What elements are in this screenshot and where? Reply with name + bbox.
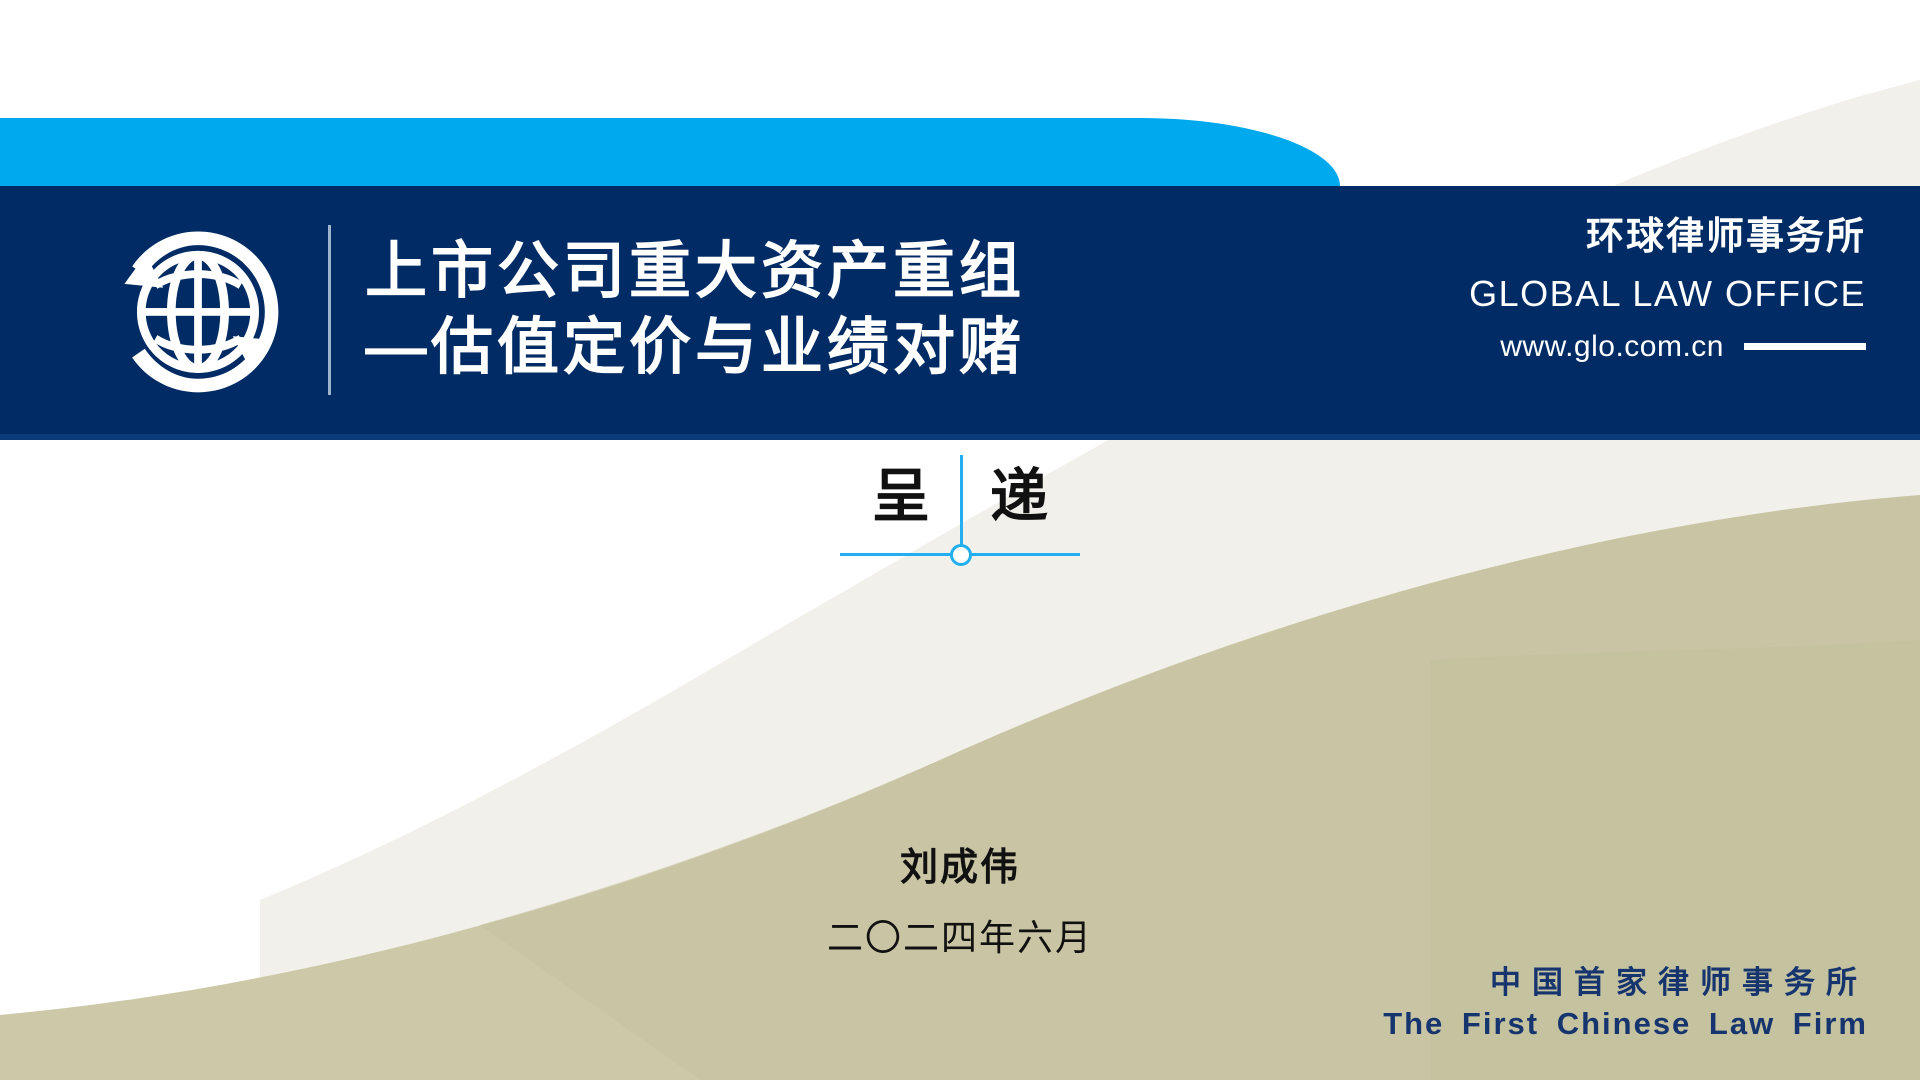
footer-tagline-en: The First Chinese Law Firm [1383,1004,1868,1044]
globe-with-circular-arrows-icon [100,218,296,402]
present-center-dot [950,544,972,566]
firm-name-en: GLOBAL LAW OFFICE [1469,268,1866,320]
page-title: 上市公司重大资产重组 —估值定价与业绩对赌 [365,234,1025,385]
title-line-1: 上市公司重大资产重组 [365,234,1025,310]
footer-tagline-cn: 中国首家律师事务所 [1383,963,1868,1004]
title-slide: 上市公司重大资产重组 —估值定价与业绩对赌 环球律师事务所 GLOBAL LAW… [0,0,1920,1080]
firm-website[interactable]: www.glo.com.cn [1500,330,1724,364]
firm-name-cn: 环球律师事务所 [1469,214,1866,262]
firm-branding: 环球律师事务所 GLOBAL LAW OFFICE www.glo.com.cn [1469,214,1866,364]
title-divider [328,225,331,395]
title-line-2: —估值定价与业绩对赌 [365,310,1025,386]
present-label: 呈递 [0,455,1920,539]
author-section: 刘成伟 二〇二四年六月 [0,840,1920,965]
present-section: 呈递 [0,455,1920,585]
author-date: 二〇二四年六月 [0,911,1920,965]
brand-rule [1744,343,1866,350]
navy-header-hairline [0,434,1920,440]
author-name: 刘成伟 [0,840,1920,897]
footer-tagline: 中国首家律师事务所 The First Chinese Law Firm [1383,963,1868,1044]
cyan-accent-band [0,118,1340,186]
firm-website-row: www.glo.com.cn [1469,330,1866,364]
